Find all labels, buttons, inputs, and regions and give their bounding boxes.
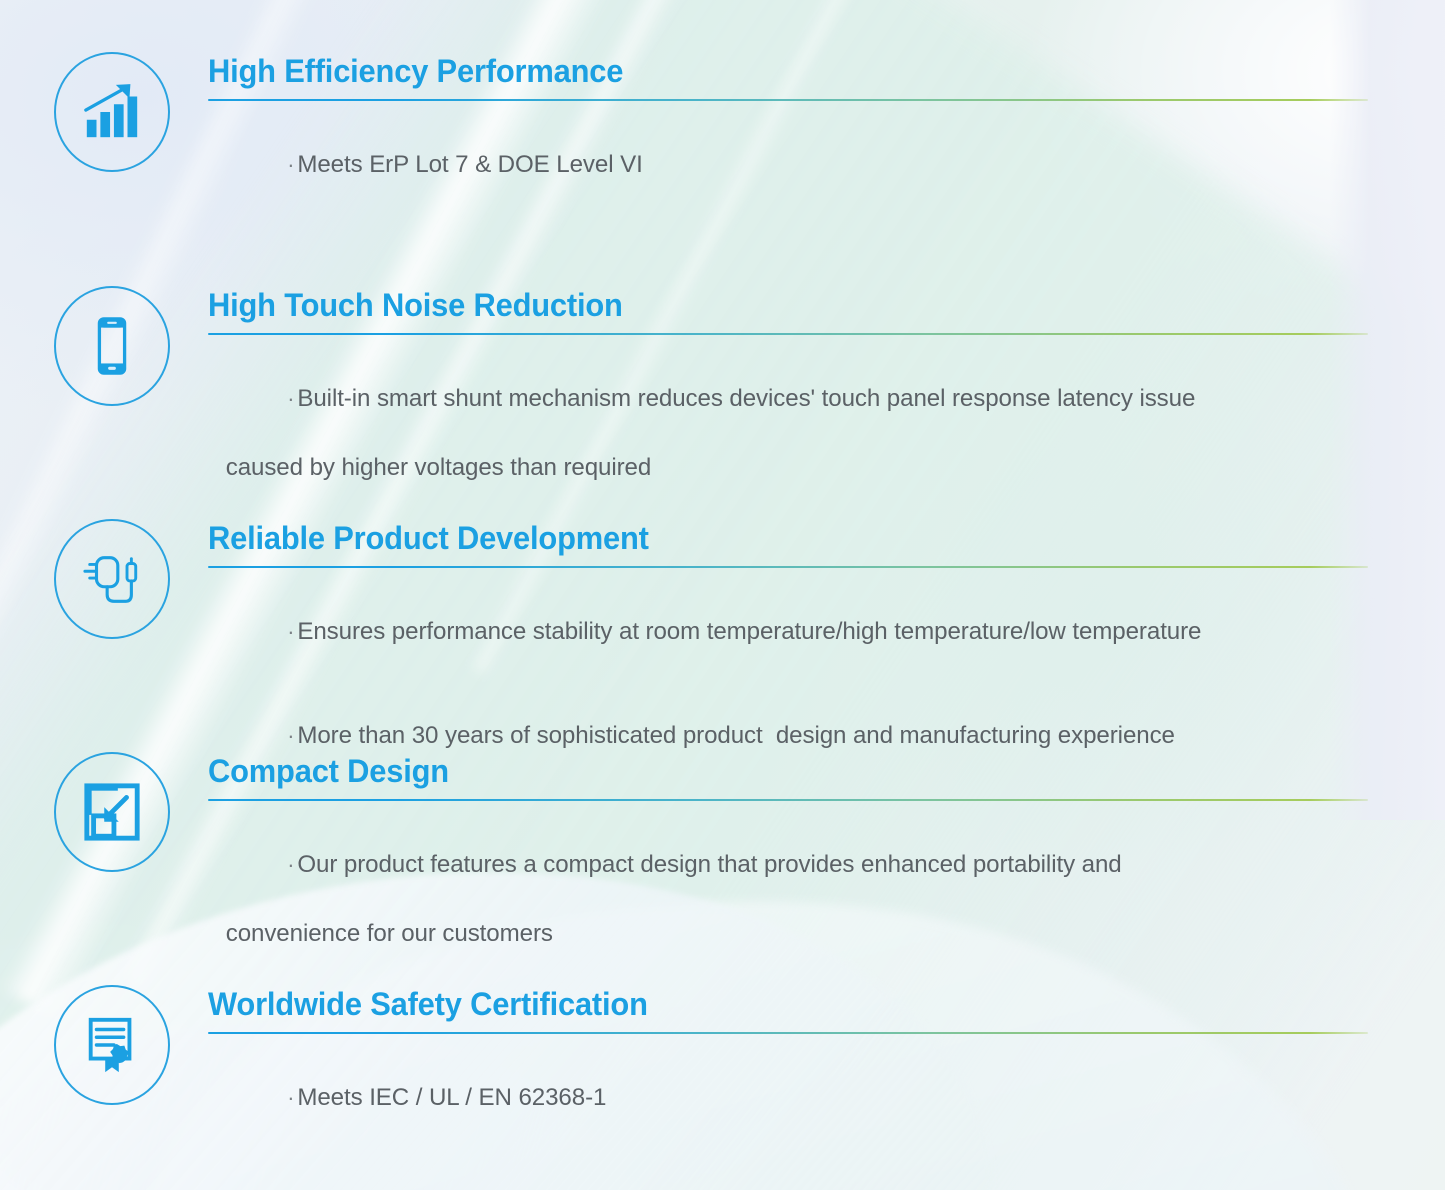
bullet-dot: · bbox=[287, 619, 294, 644]
feature-title: High Touch Noise Reduction bbox=[208, 288, 1327, 323]
feature-icon-container bbox=[54, 985, 170, 1105]
feature-body: Worldwide Safety Certification ·Meets IE… bbox=[208, 985, 1368, 1150]
feature-item-high-touch-noise-reduction: High Touch Noise Reduction ·Built-in sma… bbox=[0, 286, 1368, 556]
bullet-dot: · bbox=[287, 152, 294, 177]
bullet-dot: · bbox=[287, 852, 294, 877]
feature-line-text: Our product features a compact design th… bbox=[297, 851, 1121, 878]
feature-icon-container bbox=[54, 52, 170, 172]
bullet-dot: · bbox=[287, 386, 294, 411]
feature-divider bbox=[208, 1032, 1368, 1035]
feature-divider bbox=[208, 99, 1368, 102]
feature-item-compact-design: Compact Design ·Our product features a c… bbox=[0, 752, 1368, 1022]
feature-title: High Efficiency Performance bbox=[208, 54, 1327, 89]
bullet-dot: · bbox=[287, 1085, 294, 1110]
feature-highlights-page: High Efficiency Performance ·Meets ErP L… bbox=[0, 0, 1445, 1190]
feature-line-text: Meets ErP Lot 7 & DOE Level VI bbox=[297, 151, 642, 178]
feature-icon-container bbox=[54, 286, 170, 406]
feature-body: Compact Design ·Our product features a c… bbox=[208, 752, 1368, 1022]
certificate-award-icon bbox=[81, 1014, 143, 1076]
feature-icon-container bbox=[54, 519, 170, 639]
shrink-resize-icon bbox=[81, 781, 143, 843]
feature-icon-container bbox=[54, 752, 170, 872]
feature-title: Reliable Product Development bbox=[208, 521, 1327, 556]
feature-line: ·Meets IEC / UL / EN 62368-1 bbox=[208, 1046, 1351, 1150]
feature-line-text: Ensures performance stability at room te… bbox=[297, 618, 1201, 645]
feature-line: ·Meets ErP Lot 7 & DOE Level VI bbox=[208, 113, 1351, 217]
feature-title: Compact Design bbox=[208, 754, 1327, 789]
feature-item-worldwide-safety-certification: Worldwide Safety Certification ·Meets IE… bbox=[0, 985, 1368, 1150]
feature-line-continuation: caused by higher voltages than required bbox=[208, 451, 1351, 486]
feature-line-text: More than 30 years of sophisticated prod… bbox=[297, 722, 1175, 749]
feature-line-text: Built-in smart shunt mechanism reduces d… bbox=[297, 385, 1195, 412]
smartphone-icon bbox=[81, 315, 143, 377]
feature-body: High Touch Noise Reduction ·Built-in sma… bbox=[208, 286, 1368, 556]
feature-lines: ·Meets ErP Lot 7 & DOE Level VI bbox=[208, 113, 1368, 217]
feature-divider bbox=[208, 333, 1368, 336]
feature-line: ·Ensures performance stability at room t… bbox=[208, 580, 1351, 684]
bullet-dot: · bbox=[287, 723, 294, 748]
feature-divider bbox=[208, 566, 1368, 569]
feature-item-reliable-product-development: Reliable Product Development ·Ensures pe… bbox=[0, 519, 1368, 789]
feature-item-high-efficiency-performance: High Efficiency Performance ·Meets ErP L… bbox=[0, 52, 1368, 217]
feature-line-continuation: convenience for our customers bbox=[208, 917, 1351, 952]
feature-divider bbox=[208, 799, 1368, 802]
feature-title: Worldwide Safety Certification bbox=[208, 987, 1327, 1022]
feature-line-text: Meets IEC / UL / EN 62368-1 bbox=[297, 1084, 606, 1111]
feature-lines: ·Meets IEC / UL / EN 62368-1 bbox=[208, 1046, 1368, 1150]
power-adapter-icon bbox=[81, 548, 143, 610]
feature-body: Reliable Product Development ·Ensures pe… bbox=[208, 519, 1368, 789]
feature-body: High Efficiency Performance ·Meets ErP L… bbox=[208, 52, 1368, 217]
bar-chart-growth-icon bbox=[81, 81, 143, 143]
